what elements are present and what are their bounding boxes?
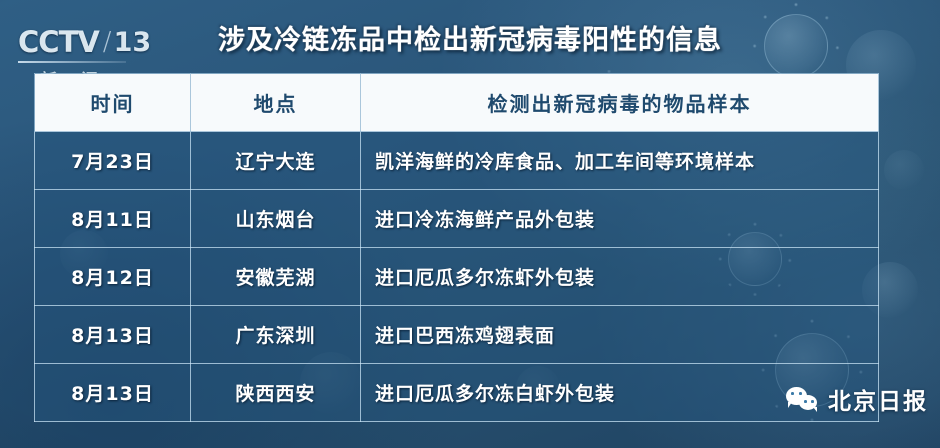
cell-sample: 凯洋海鲜的冷库食品、加工车间等环境样本 (361, 132, 879, 190)
page-title: 涉及冷链冻品中检出新冠病毒阳性的信息 (0, 18, 940, 57)
cell-sample: 进口厄瓜多尔冻虾外包装 (361, 248, 879, 306)
cell-sample: 进口巴西冻鸡翅表面 (361, 306, 879, 364)
cell-place: 安徽芜湖 (191, 248, 361, 306)
cell-place: 辽宁大连 (191, 132, 361, 190)
cell-date: 8月13日 (35, 306, 191, 364)
table-row: 8月12日 安徽芜湖 进口厄瓜多尔冻虾外包装 (35, 248, 879, 306)
table-row: 8月11日 山东烟台 进口冷冻海鲜产品外包装 (35, 190, 879, 248)
table-body: 7月23日 辽宁大连 凯洋海鲜的冷库食品、加工车间等环境样本 8月11日 山东烟… (35, 132, 879, 422)
cell-place: 广东深圳 (191, 306, 361, 364)
cell-date: 8月11日 (35, 190, 191, 248)
bokeh-bubble (884, 150, 924, 190)
cell-date: 7月23日 (35, 132, 191, 190)
info-table: 时间 地点 检测出新冠病毒的物品样本 7月23日 辽宁大连 凯洋海鲜的冷库食品、… (34, 73, 879, 422)
cell-place: 山东烟台 (191, 190, 361, 248)
watermark-label: 北京日报 (828, 382, 928, 416)
cell-date: 8月12日 (35, 248, 191, 306)
table-header: 时间 地点 检测出新冠病毒的物品样本 (35, 74, 879, 132)
column-header-time: 时间 (35, 74, 191, 132)
column-header-place: 地点 (191, 74, 361, 132)
table-row: 7月23日 辽宁大连 凯洋海鲜的冷库食品、加工车间等环境样本 (35, 132, 879, 190)
cell-place: 陕西西安 (191, 364, 361, 422)
table-row: 8月13日 广东深圳 进口巴西冻鸡翅表面 (35, 306, 879, 364)
table-header-row: 时间 地点 检测出新冠病毒的物品样本 (35, 74, 879, 132)
cell-date: 8月13日 (35, 364, 191, 422)
wechat-icon (786, 386, 820, 412)
column-header-sample: 检测出新冠病毒的物品样本 (361, 74, 879, 132)
cell-sample: 进口冷冻海鲜产品外包装 (361, 190, 879, 248)
watermark: 北京日报 (786, 382, 928, 416)
channel-logo-underline (18, 61, 126, 63)
broadcast-screen: CCTV / 13 新 闻 涉及冷链冻品中检出新冠病毒阳性的信息 时间 地点 检… (0, 0, 940, 448)
table-row: 8月13日 陕西西安 进口厄瓜多尔冻白虾外包装 (35, 364, 879, 422)
